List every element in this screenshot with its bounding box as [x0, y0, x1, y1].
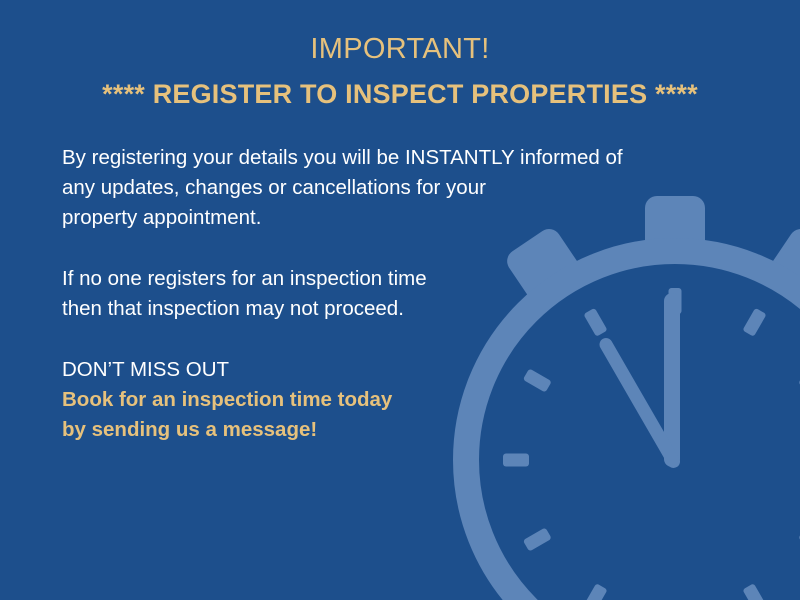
paragraph-spacer	[62, 324, 722, 355]
paragraph-line: property appointment.	[62, 203, 722, 233]
slide-canvas: IMPORTANT! **** REGISTER TO INSPECT PROP…	[0, 0, 800, 600]
call-to-action-block: DON’T MISS OUT Book for an inspection ti…	[62, 355, 722, 445]
paragraph-registering: By registering your details you will be …	[62, 143, 722, 233]
paragraph-line: If no one registers for an inspection ti…	[62, 264, 722, 294]
paragraph-line: then that inspection may not proceed.	[62, 294, 722, 324]
paragraph-spacer	[62, 233, 722, 264]
cta-book-inspection: Book for an inspection time today	[62, 385, 722, 415]
paragraph-line: By registering your details you will be …	[62, 143, 722, 173]
heading-block: IMPORTANT! **** REGISTER TO INSPECT PROP…	[0, 30, 800, 114]
paragraph-line: any updates, changes or cancellations fo…	[62, 173, 722, 203]
page-subtitle: **** REGISTER TO INSPECT PROPERTIES ****	[0, 68, 800, 114]
body-block: By registering your details you will be …	[62, 143, 722, 445]
page-title: IMPORTANT!	[0, 30, 800, 68]
slide-content: IMPORTANT! **** REGISTER TO INSPECT PROP…	[0, 0, 800, 600]
paragraph-no-registration: If no one registers for an inspection ti…	[62, 264, 722, 324]
cta-send-message: by sending us a message!	[62, 415, 722, 445]
cta-dont-miss-out: DON’T MISS OUT	[62, 355, 722, 385]
